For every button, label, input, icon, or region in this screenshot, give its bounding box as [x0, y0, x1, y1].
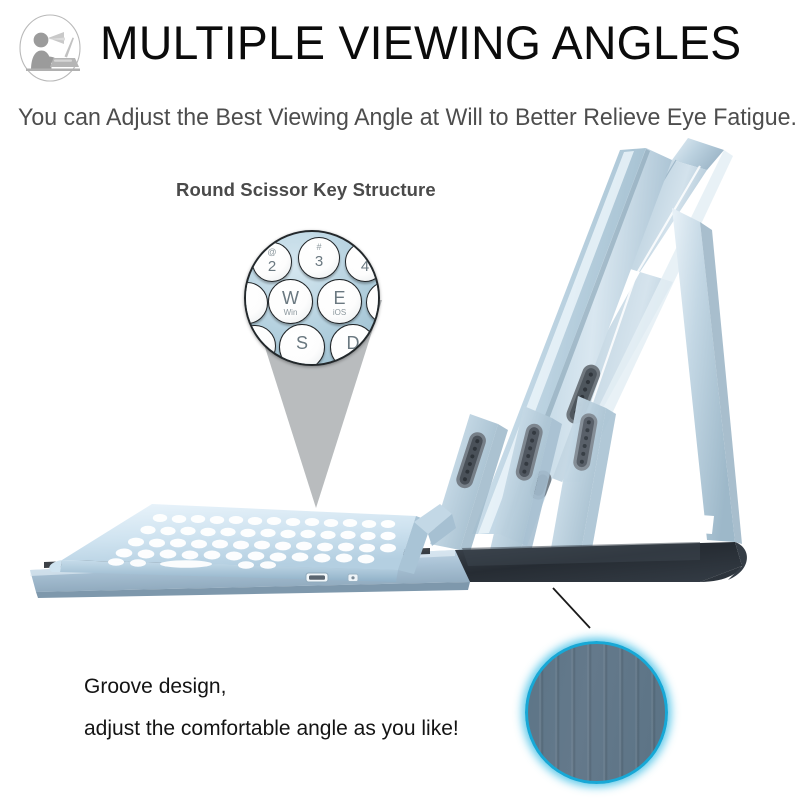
bottom-description: Groove design, adjust the comfortable an…	[84, 666, 514, 750]
key-d-main-label: D	[331, 333, 375, 353]
bottom-text-line-1: Groove design,	[84, 666, 514, 708]
key-2: @2	[252, 242, 292, 282]
keyboard-zoom-callout: @2#3$4WWinEiOSRSD	[236, 224, 396, 514]
callout-label-scissor-key: Round Scissor Key Structure	[176, 179, 436, 201]
key-d: D	[330, 324, 376, 366]
product-feature-image: MULTIPLE VIEWING ANGLES You can Adjust t…	[0, 0, 800, 800]
person-at-laptop-viewing-icon	[14, 12, 86, 84]
key-e-sub-label: iOS	[318, 308, 361, 317]
tablet-keyboard-case-photo	[0, 130, 800, 630]
key-2-main-label: 2	[253, 258, 291, 275]
bottom-text-line-2: adjust the comfortable angle as you like…	[84, 708, 514, 750]
key-s: S	[279, 324, 325, 366]
key-r: R	[366, 281, 380, 324]
key-s-main-label: S	[280, 333, 324, 353]
key-r-main-label: R	[367, 290, 380, 310]
key-4: $4	[345, 242, 380, 282]
key-3-main-label: 3	[299, 253, 339, 270]
key-4-main-label: 4	[346, 258, 380, 275]
key-e-main-label: E	[318, 288, 361, 308]
key-w-main-label: W	[269, 288, 312, 308]
key-4-sup-label: $	[346, 247, 380, 257]
key-e: EiOS	[317, 279, 362, 324]
groove-texture-zoom-circle	[525, 641, 668, 784]
key-q	[244, 282, 268, 324]
keyboard-zoom-circle: @2#3$4WWinEiOSRSD	[244, 230, 380, 366]
key-3: #3	[298, 237, 340, 279]
key-w: WWin	[268, 279, 313, 324]
page-title: MULTIPLE VIEWING ANGLES	[100, 12, 786, 74]
key-w-sub-label: Win	[269, 308, 312, 317]
key-3-sup-label: #	[299, 242, 339, 252]
key-2-sup-label: @	[253, 247, 291, 257]
